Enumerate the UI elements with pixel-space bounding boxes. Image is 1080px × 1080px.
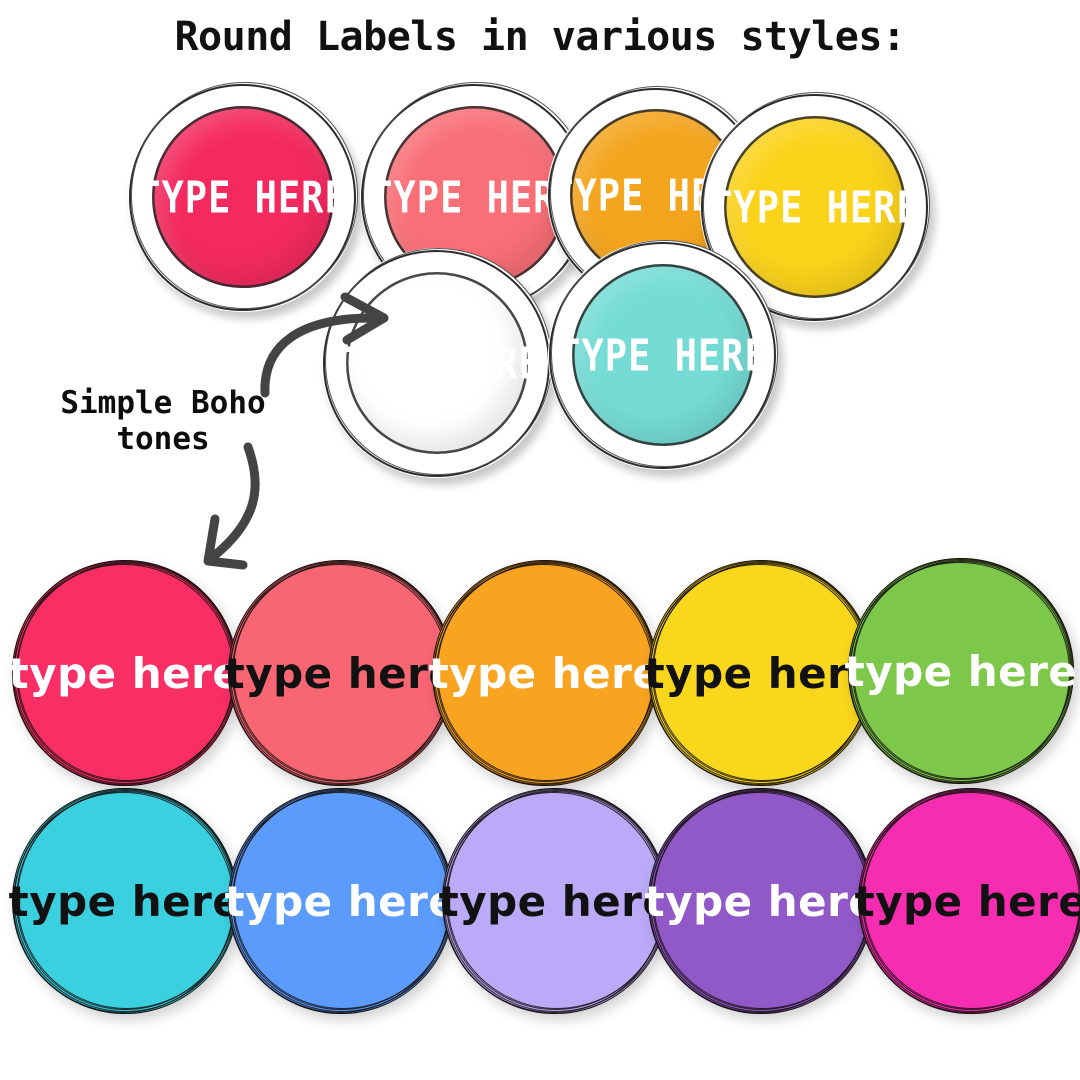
sketch-outline-stroke [233, 790, 452, 1009]
sketch-coral[interactable]: type here [228, 560, 454, 786]
sketch-outline-stroke [233, 562, 452, 781]
sketch-outline-stroke [863, 790, 1080, 1009]
sketch-blue[interactable]: type here [228, 788, 454, 1014]
sticker-color-disc [152, 106, 334, 288]
sketch-outline-stroke [653, 790, 872, 1009]
sketch-outline-stroke [17, 562, 236, 781]
sketch-outline-stroke [653, 562, 872, 781]
sketch-magenta[interactable]: type here [858, 788, 1080, 1014]
sketch-outline-stroke [437, 562, 656, 781]
sticker-green[interactable]: TYPE HERE [322, 248, 552, 478]
sketch-green[interactable]: type here [848, 558, 1074, 784]
sketch-crimson[interactable]: type here [12, 560, 238, 786]
page-title: Round Labels in various styles: [0, 14, 1080, 60]
sticker-color-disc [572, 264, 754, 446]
sketch-orange[interactable]: type here [432, 560, 658, 786]
sticker-teal[interactable]: TYPE HERE [548, 240, 778, 470]
sticker-crimson[interactable]: TYPE HERE [128, 82, 358, 312]
sketch-outline-stroke [853, 560, 1072, 779]
poster-canvas: Round Labels in various styles: TYPE HER… [0, 0, 1080, 1080]
sticker-color-disc [724, 116, 906, 298]
arrow-down-curve [214, 447, 255, 556]
sketch-purple[interactable]: type here [648, 788, 874, 1014]
annotation-text: Simple Boho tones [38, 386, 288, 457]
sketch-cyan[interactable]: type here [12, 788, 238, 1014]
sketch-lavender[interactable]: type here [442, 788, 668, 1014]
sticker-color-disc [346, 272, 528, 454]
sketch-yellow[interactable]: type here [648, 560, 874, 786]
sketch-outline-stroke [17, 790, 236, 1009]
sketch-outline-stroke [447, 790, 666, 1009]
arrow-down-head [208, 519, 243, 565]
